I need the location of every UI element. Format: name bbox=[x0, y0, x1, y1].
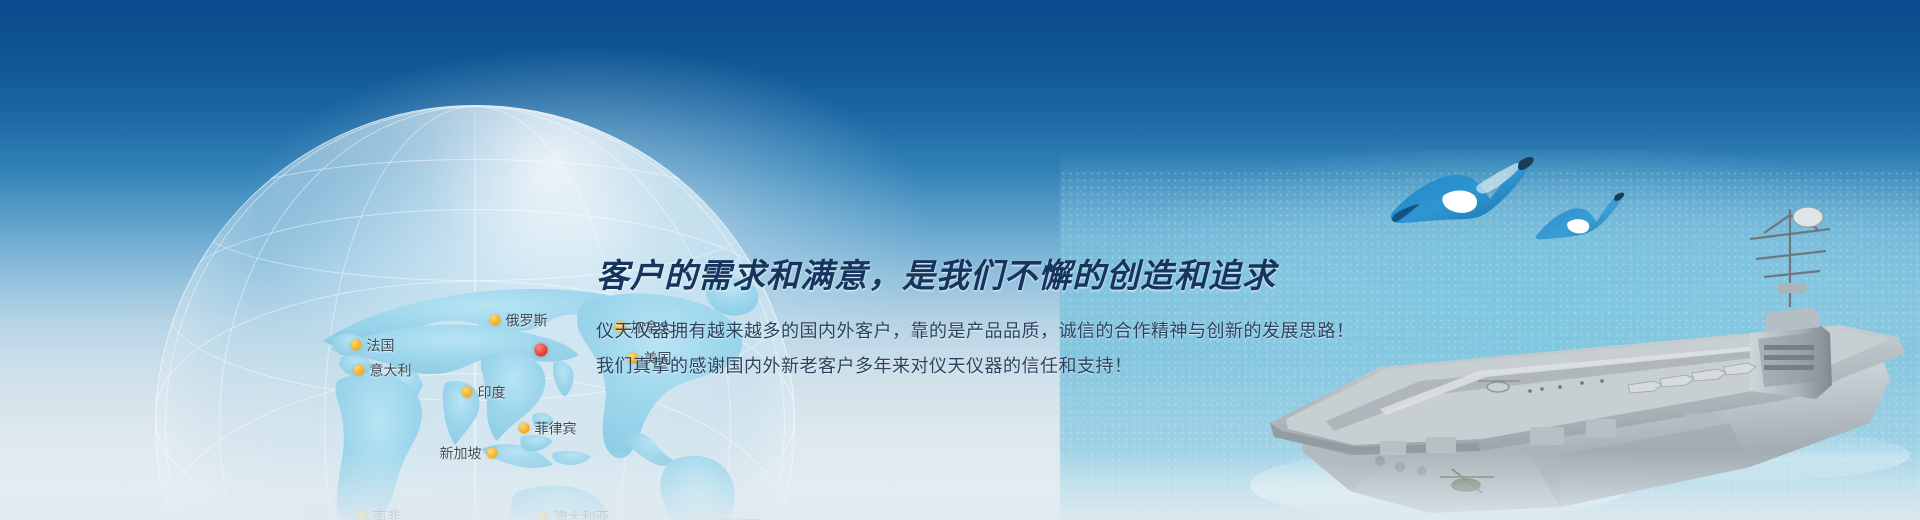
map-marker-label: 新加坡 bbox=[440, 443, 482, 463]
map-marker-label: 意大利 bbox=[370, 360, 412, 380]
map-marker-label: 阿根廷 bbox=[722, 515, 764, 520]
map-marker-label: 印度 bbox=[478, 382, 506, 402]
map-marker-dot-icon bbox=[490, 315, 501, 326]
aircraft-carrier-image bbox=[1230, 155, 1920, 520]
map-marker-dot-icon bbox=[462, 387, 473, 398]
map-marker-label: 南非 bbox=[373, 506, 401, 520]
map-marker-4[interactable]: 印度 bbox=[462, 387, 473, 398]
map-marker-home-dot-icon bbox=[535, 344, 548, 357]
map-marker-label: 菲律宾 bbox=[535, 418, 577, 438]
map-marker-10[interactable]: 澳大利亚 bbox=[538, 512, 549, 520]
map-marker-2[interactable]: 俄罗斯 bbox=[490, 315, 501, 326]
map-marker-label: 法国 bbox=[367, 335, 395, 355]
map-marker-dot-icon bbox=[487, 448, 498, 459]
map-marker-label: 澳大利亚 bbox=[554, 507, 610, 520]
map-marker-label: 俄罗斯 bbox=[506, 310, 548, 330]
hero-banner: 法国意大利俄罗斯印度加拿大美国菲律宾新加坡南非澳大利亚智利阿根廷 客户的需求和满… bbox=[0, 0, 1920, 520]
map-marker-9[interactable]: 南非 bbox=[357, 511, 368, 520]
map-marker-dot-icon bbox=[351, 340, 362, 351]
map-marker-dot-icon bbox=[519, 423, 530, 434]
map-marker-7[interactable]: 菲律宾 bbox=[519, 423, 530, 434]
map-marker-dot-icon bbox=[357, 511, 368, 520]
map-marker-3[interactable] bbox=[535, 344, 548, 357]
map-marker-dot-icon bbox=[354, 365, 365, 376]
map-marker-dot-icon bbox=[538, 512, 549, 520]
map-marker-8[interactable]: 新加坡 bbox=[487, 448, 498, 459]
map-marker-0[interactable]: 法国 bbox=[351, 340, 362, 351]
map-marker-1[interactable]: 意大利 bbox=[354, 365, 365, 376]
